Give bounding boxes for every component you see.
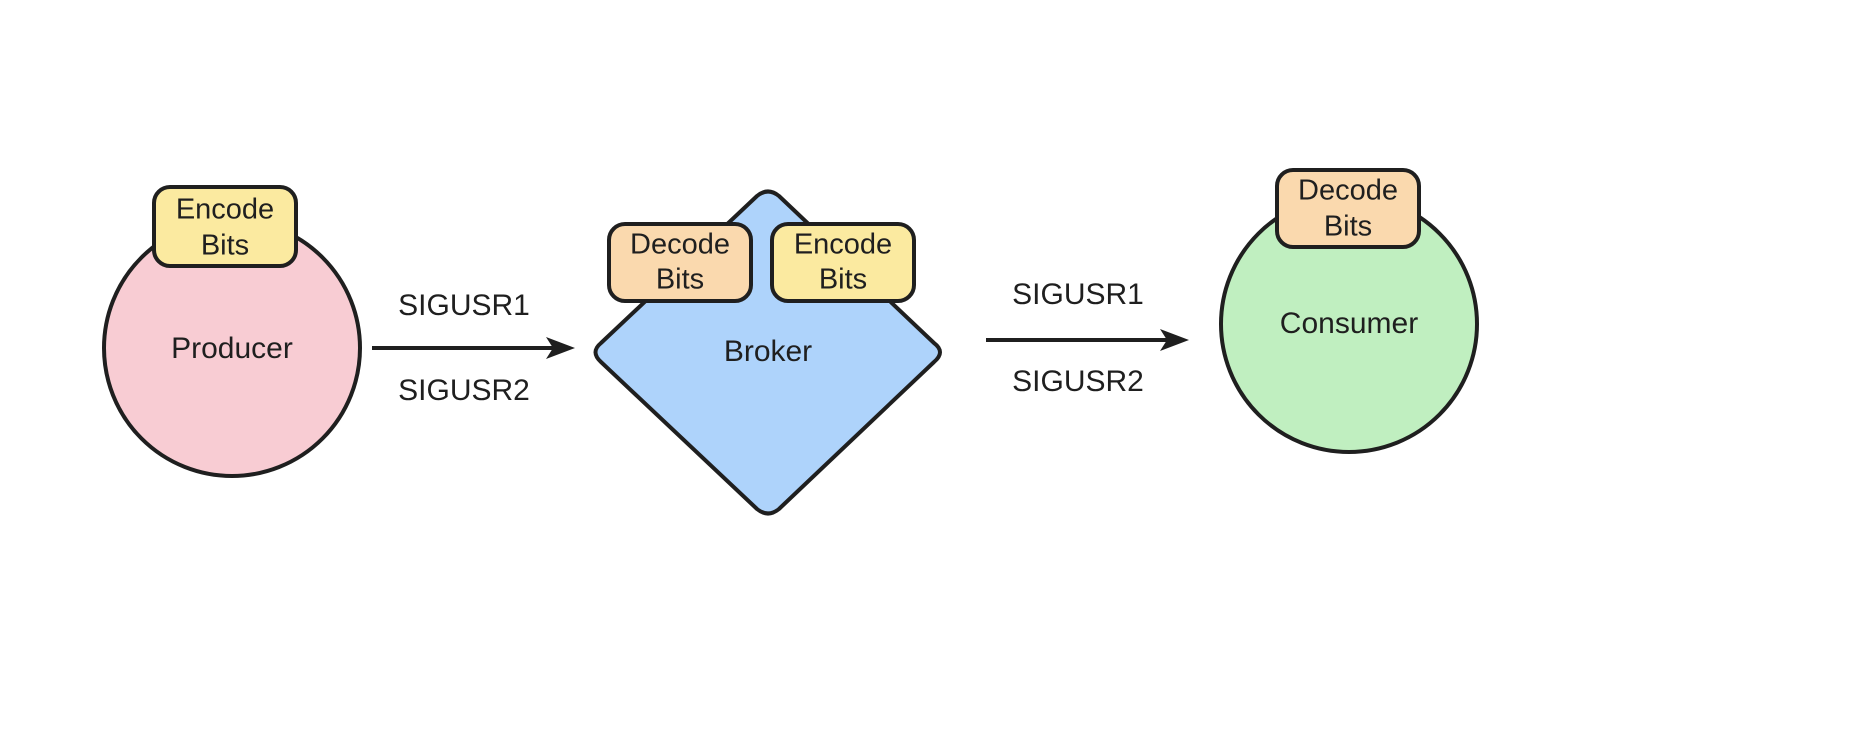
broker-encode-badge[interactable]: Encode Bits xyxy=(772,224,914,301)
edge-broker-consumer-label-below: SIGUSR2 xyxy=(1012,365,1144,398)
broker-decode-badge-line1: Decode xyxy=(630,229,730,261)
producer-label: Producer xyxy=(171,332,293,365)
broker-label: Broker xyxy=(724,335,812,368)
consumer-decode-badge-line2: Bits xyxy=(1324,211,1372,243)
broker-decode-badge-line2: Bits xyxy=(656,264,704,296)
producer-encode-badge-line2: Bits xyxy=(201,230,249,262)
consumer-decode-badge-line1: Decode xyxy=(1298,175,1398,207)
edge-broker-consumer[interactable]: SIGUSR1 SIGUSR2 xyxy=(986,278,1189,398)
edge-producer-broker[interactable]: SIGUSR1 SIGUSR2 xyxy=(372,289,575,407)
consumer-label: Consumer xyxy=(1280,307,1418,340)
flow-diagram: Producer Encode Bits SIGUSR1 SIGUSR2 Bro… xyxy=(0,0,1876,744)
producer-encode-badge-line1: Encode xyxy=(176,194,274,226)
broker-encode-badge-line1: Encode xyxy=(794,229,892,261)
consumer-decode-badge[interactable]: Decode Bits xyxy=(1277,170,1419,247)
edge-producer-broker-label-below: SIGUSR2 xyxy=(398,374,530,407)
broker-encode-badge-line2: Bits xyxy=(819,264,867,296)
producer-encode-badge[interactable]: Encode Bits xyxy=(154,187,296,266)
diagram-canvas: Producer Encode Bits SIGUSR1 SIGUSR2 Bro… xyxy=(0,0,1876,744)
broker-decode-badge[interactable]: Decode Bits xyxy=(609,224,751,301)
edge-broker-consumer-label-above: SIGUSR1 xyxy=(1012,278,1144,311)
edge-producer-broker-label-above: SIGUSR1 xyxy=(398,289,530,322)
